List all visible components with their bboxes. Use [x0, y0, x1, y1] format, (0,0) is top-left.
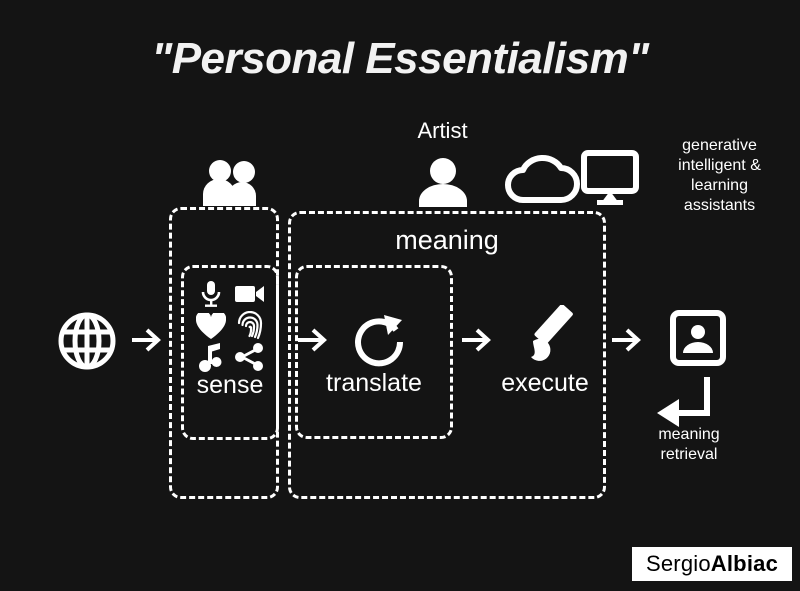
meaning-retrieval-line-1: meaning: [630, 425, 748, 445]
assistants-line-2: intelligent &: [641, 156, 798, 176]
monitor-icon: [581, 150, 639, 206]
sense-icon-grid: [192, 278, 270, 370]
assistants-line-1: generative: [641, 136, 798, 156]
meaning-retrieval-label: meaning retrieval: [630, 425, 748, 465]
fingerprint-icon: [236, 311, 264, 341]
page-title: "Personal Essentialism": [0, 34, 800, 84]
signature-logo: SergioAlbiac: [632, 547, 792, 581]
two-people-icon: [201, 158, 263, 208]
diagram-canvas: "Personal Essentialism" meaning: [0, 0, 800, 591]
person-icon: [417, 155, 469, 207]
signature-first-name: Sergio: [646, 551, 711, 577]
assistants-label: generative intelligent & learning assist…: [641, 136, 798, 216]
arrow-right-icon-3: [460, 325, 492, 355]
heart-icon: [196, 313, 226, 340]
return-arrow-icon: [655, 375, 717, 427]
paintbrush-icon: [513, 305, 579, 371]
meaning-group-label: meaning: [288, 225, 606, 256]
microphone-icon: [200, 280, 222, 308]
signature-last-name: Albiac: [711, 551, 778, 577]
portrait-frame-icon: [670, 310, 726, 366]
sense-stage-label: sense: [181, 371, 279, 400]
arrow-right-icon-2: [296, 325, 328, 355]
arrow-right-icon-4: [610, 325, 642, 355]
execute-stage-label: execute: [460, 369, 630, 398]
cloud-icon: [503, 150, 581, 204]
translate-stage-label: translate: [295, 369, 453, 398]
globe-icon: [56, 310, 118, 372]
artist-label: Artist: [370, 118, 515, 144]
assistants-line-3: learning: [641, 176, 798, 196]
music-note-icon: [199, 342, 223, 372]
meaning-retrieval-line-2: retrieval: [630, 445, 748, 465]
arrow-right-icon-1: [130, 325, 162, 355]
share-icon: [235, 343, 265, 371]
assistants-line-4: assistants: [641, 196, 798, 216]
refresh-icon: [352, 310, 410, 368]
video-camera-icon: [235, 284, 265, 304]
